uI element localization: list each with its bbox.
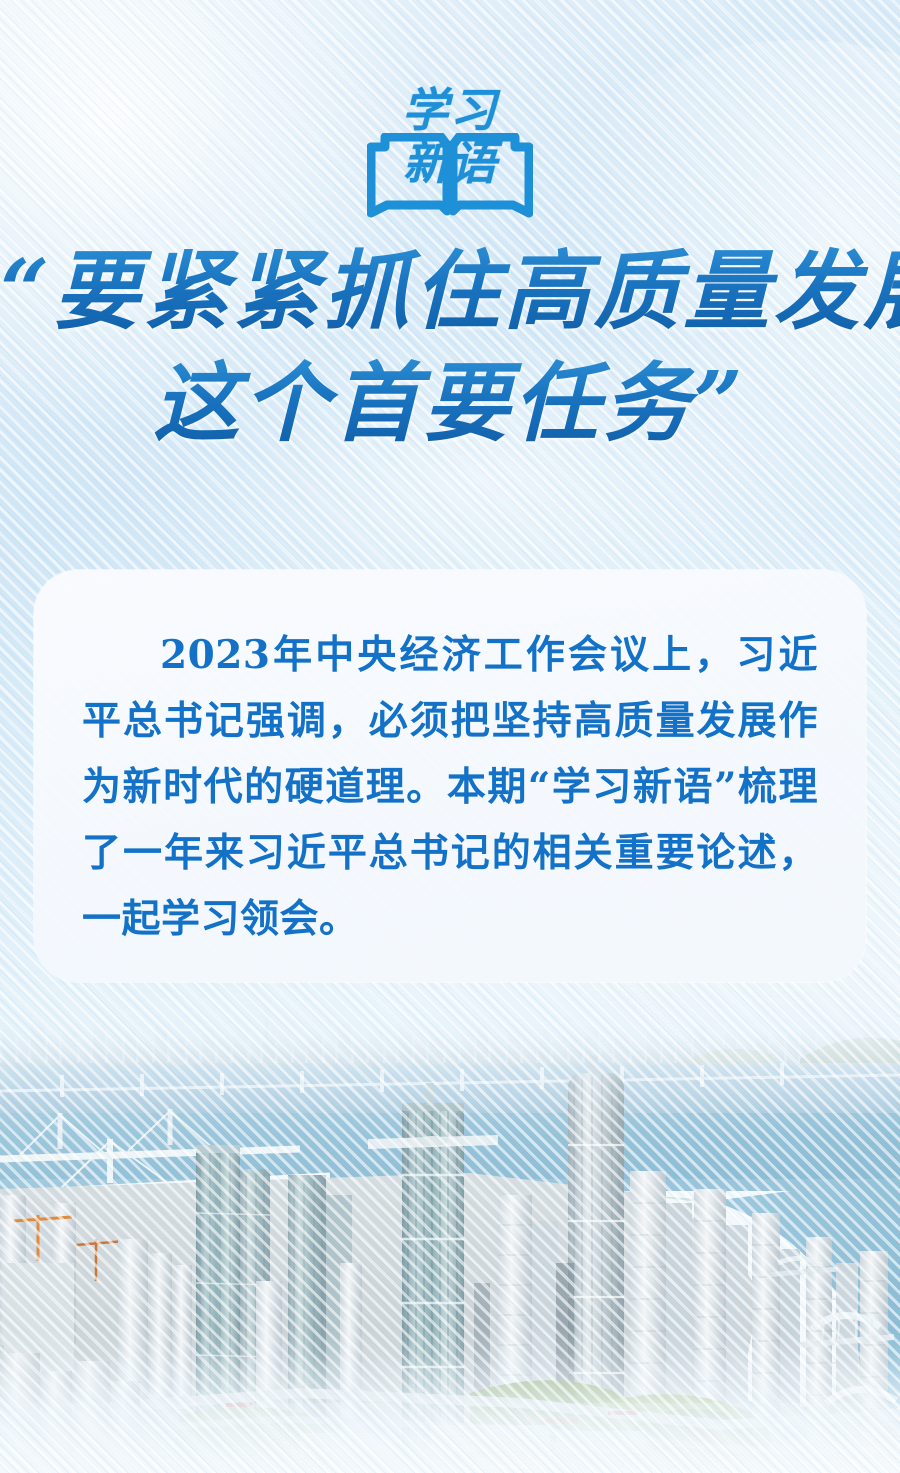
city-skyline-photo (0, 963, 900, 1473)
poster-canvas: 学习 新语 “要紧紧抓住高质量发展 这个首要任务” 2023年中央经济工作会议上… (0, 0, 900, 1473)
brand-logo-line1: 学习 (402, 87, 498, 133)
open-book-icon (367, 133, 533, 219)
page-title: “要紧紧抓住高质量发展 这个首要任务” (0, 236, 900, 460)
page-title-line2: 这个首要任务” (0, 348, 900, 460)
page-title-line1: “要紧紧抓住高质量发展 (0, 236, 900, 348)
brand-logo: 学习 新语 (0, 86, 900, 222)
lead-paragraph: 2023年中央经济工作会议上，习近平总书记强调，必须把坚持高质量发展作为新时代的… (82, 622, 818, 952)
lead-card: 2023年中央经济工作会议上，习近平总书记强调，必须把坚持高质量发展作为新时代的… (34, 570, 866, 982)
